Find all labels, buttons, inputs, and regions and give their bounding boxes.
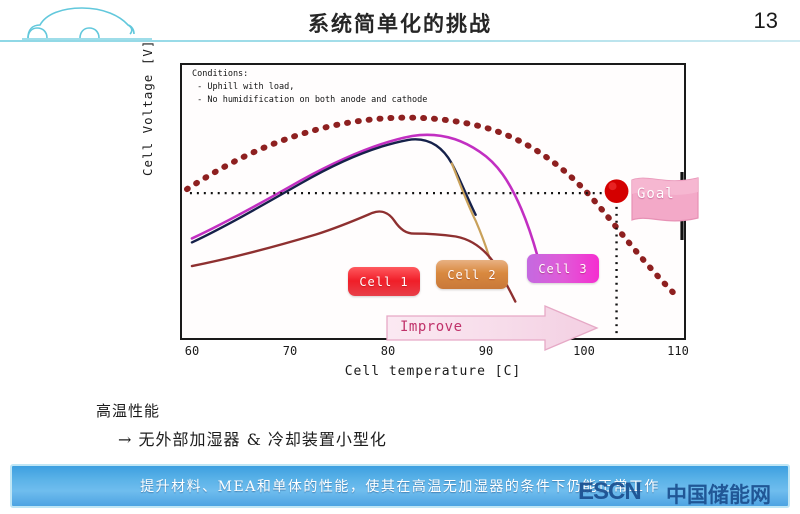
x-tick-110: 110 [667,344,689,358]
watermark: ESCN 中国储能网 [578,474,790,508]
goal-label: Goal [637,186,675,202]
page-title: 系统简单化的挑战 [0,8,800,38]
x-tick-60: 60 [185,344,199,358]
slide-notes: 高温性能 → 无外部加湿器 & 冷却装置小型化 [96,400,636,450]
series-cell2-curve [192,139,476,242]
watermark-chinese: 中国储能网 [666,479,771,509]
x-tick-70: 70 [283,344,297,358]
legend-badge-cell3: Cell 3 [527,254,599,283]
goal-marker-highlight [609,182,617,190]
chart-conditions-note: Conditions: - Uphill with load, - No hum… [192,68,522,107]
header-divider [0,40,800,42]
y-axis-label: Cell Voltage [V] [140,40,155,176]
note-line-2: → 无外部加湿器 & 冷却装置小型化 [96,426,636,450]
x-axis-label: Cell temperature [C] [180,364,686,379]
note-line-1: 高温性能 [96,400,636,421]
legend-badge-cell2: Cell 2 [436,260,508,289]
legend-badge-cell1: Cell 1 [348,267,420,296]
slide-header: 系统简单化的挑战 13 [0,0,800,46]
goal-marker-dot [605,179,629,203]
chart-figure: Conditions: - Uphill with load, - No hum… [0,46,800,396]
series-cell2-tail [452,164,490,259]
watermark-latin: ESCN [578,478,641,506]
page-number: 13 [754,8,778,34]
goal-flag-icon [626,172,704,240]
improve-label: Improve [400,319,463,335]
